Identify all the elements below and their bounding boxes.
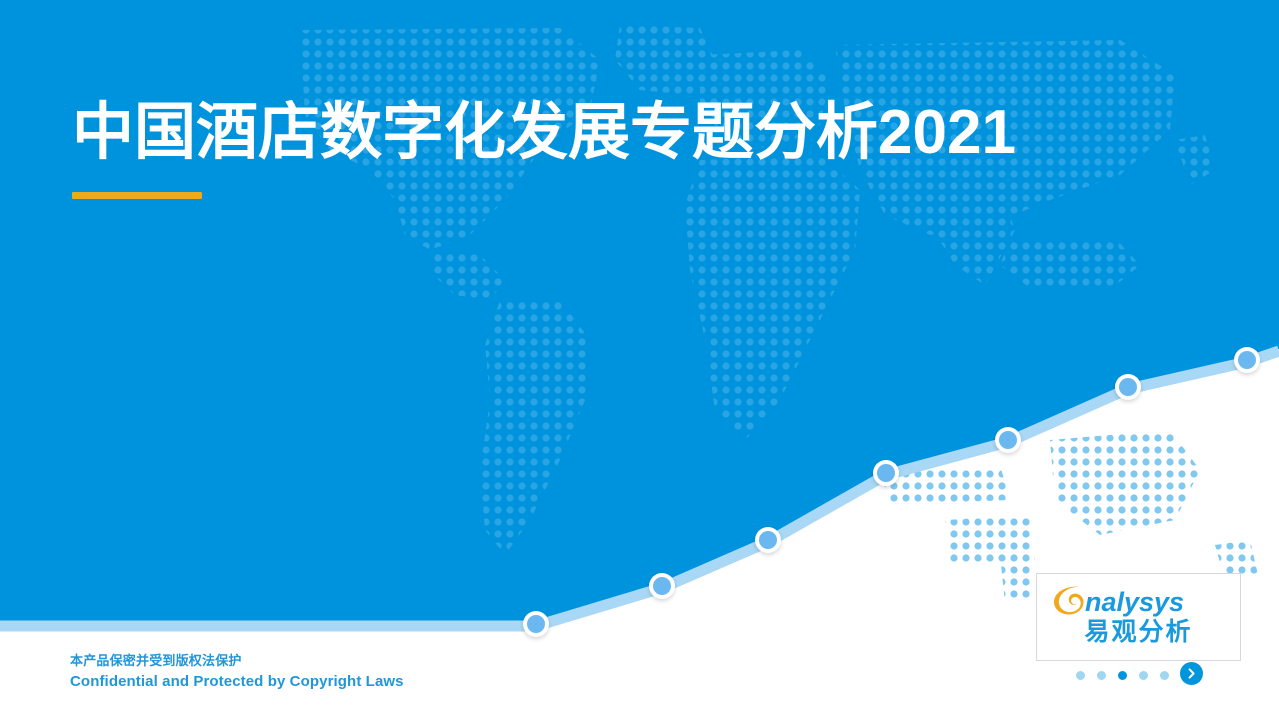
chart-marker (755, 527, 781, 553)
chart-marker (1115, 374, 1141, 400)
chart-marker (649, 573, 675, 599)
pager-dot-5[interactable] (1160, 671, 1169, 680)
logo-chinese-name: 易观分析 (1037, 616, 1240, 648)
chart-marker (1234, 347, 1260, 373)
next-slide-button[interactable] (1180, 662, 1203, 685)
pager-dot-1[interactable] (1076, 671, 1085, 680)
pager-dot-3[interactable] (1118, 671, 1127, 680)
chart-marker (523, 611, 549, 637)
pager-dots[interactable] (1076, 664, 1169, 686)
slide-cover: 中国酒店数字化发展专题分析2021 本产品保密并受到版权法保护 Confiden… (0, 0, 1279, 719)
chevron-right-icon (1186, 668, 1197, 679)
analysys-wordmark-icon: nalysys (1051, 584, 1227, 618)
confidential-text-cn: 本产品保密并受到版权法保护 (70, 651, 404, 671)
pager-dot-4[interactable] (1139, 671, 1148, 680)
page-title: 中国酒店数字化发展专题分析2021 (72, 96, 1016, 170)
title-block: 中国酒店数字化发展专题分析2021 (72, 96, 1016, 199)
confidential-text-en: Confidential and Protected by Copyright … (70, 671, 404, 693)
title-underline-rule (72, 192, 202, 199)
pager-dot-2[interactable] (1097, 671, 1106, 680)
chart-marker (995, 427, 1021, 453)
svg-text:nalysys: nalysys (1085, 587, 1184, 617)
confidentiality-note: 本产品保密并受到版权法保护 Confidential and Protected… (70, 651, 404, 693)
chart-marker (873, 460, 899, 486)
logo-card: nalysys 易观分析 (1036, 573, 1241, 661)
